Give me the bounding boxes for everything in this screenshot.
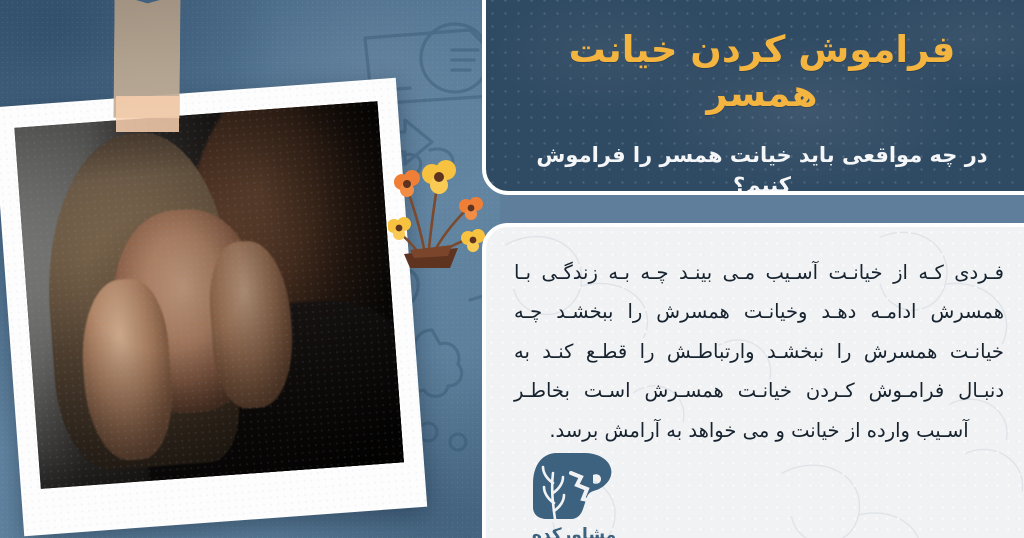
title-card: فراموش کردن خیانت همسر در چه مواقعی باید… xyxy=(482,0,1024,195)
flower-head xyxy=(422,160,456,194)
polaroid-photo-frame xyxy=(0,78,427,536)
photo-vignette xyxy=(14,101,404,489)
flower-head xyxy=(394,170,420,197)
photograph xyxy=(14,101,404,489)
tape-strip-lower xyxy=(116,96,179,132)
flower-head xyxy=(459,197,483,220)
body-paragraph: فـردی کـه از خیانـت آسـیب مـی بینـد چـه … xyxy=(514,253,1004,450)
brand-wordmark: مشاورکده xyxy=(532,525,616,538)
banner-root: LOVE xyxy=(0,0,1024,538)
body-card: فـردی کـه از خیانـت آسـیب مـی بینـد چـه … xyxy=(482,223,1024,538)
page-subtitle: در چه مواقعی باید خیانت همسر را فراموش ک… xyxy=(512,141,1012,195)
left-artwork-panel: LOVE xyxy=(0,0,500,538)
head-with-plant-icon xyxy=(531,449,617,523)
brand-logo: مشاورکده xyxy=(508,441,640,538)
flower-head xyxy=(388,217,411,240)
page-title: فراموش کردن خیانت همسر xyxy=(512,28,1012,115)
